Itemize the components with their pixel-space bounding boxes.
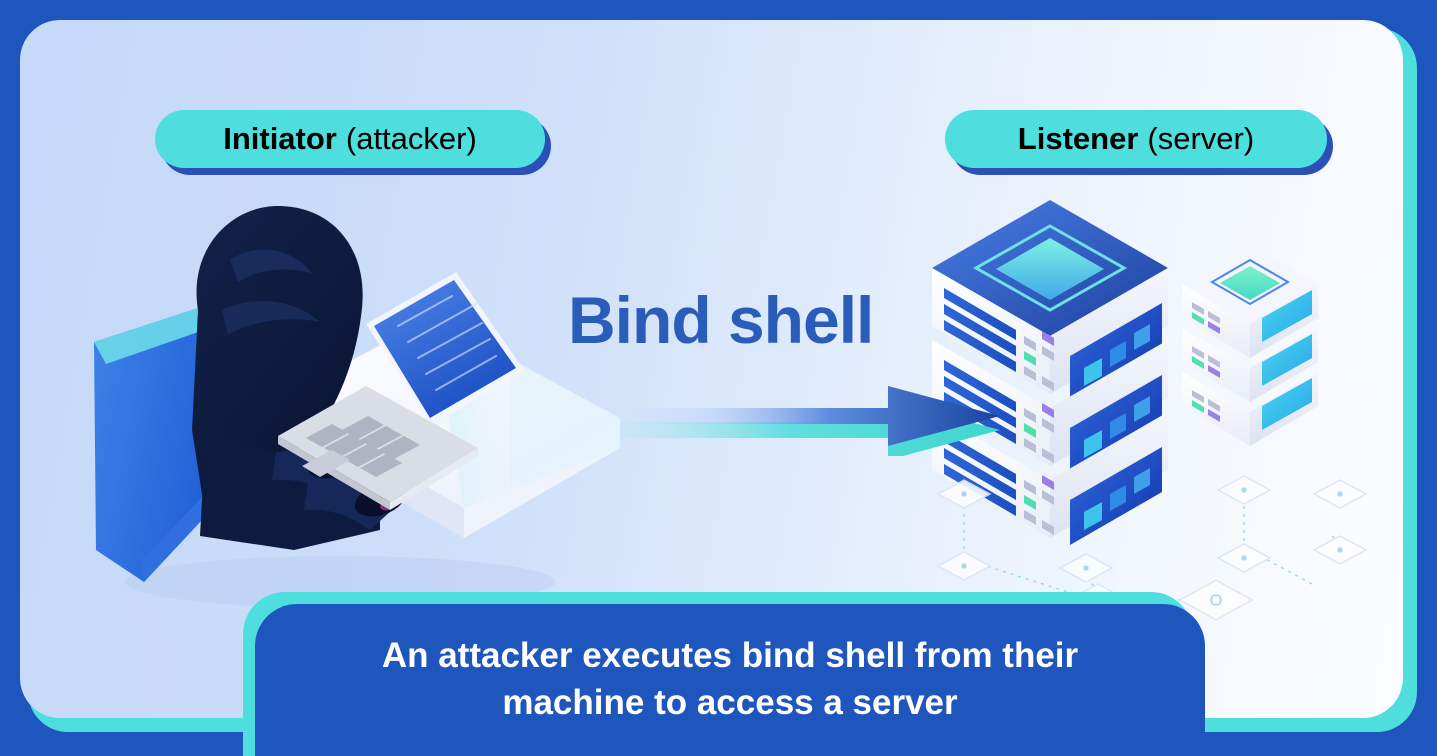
listener-label-strong: Listener bbox=[1018, 121, 1139, 157]
caption-text: An attacker executes bind shell from the… bbox=[315, 632, 1145, 727]
caption-body: An attacker executes bind shell from the… bbox=[255, 604, 1205, 756]
bind-shell-arrow bbox=[620, 378, 1010, 456]
initiator-pill-body: Initiator (attacker) bbox=[155, 110, 545, 168]
initiator-pill[interactable]: Initiator (attacker) bbox=[155, 110, 545, 168]
listener-label-light: (server) bbox=[1147, 121, 1254, 157]
caption-banner: An attacker executes bind shell from the… bbox=[243, 592, 1193, 756]
diagram-frame: Bind shell Initiator (attacker) Listener… bbox=[0, 0, 1437, 756]
listener-pill[interactable]: Listener (server) bbox=[945, 110, 1327, 168]
server-stack-secondary bbox=[1182, 244, 1318, 446]
initiator-label-light: (attacker) bbox=[346, 121, 477, 157]
center-title: Bind shell bbox=[568, 282, 873, 358]
hooded-hacker-illustration bbox=[80, 190, 650, 610]
initiator-label-strong: Initiator bbox=[223, 121, 337, 157]
listener-pill-body: Listener (server) bbox=[945, 110, 1327, 168]
